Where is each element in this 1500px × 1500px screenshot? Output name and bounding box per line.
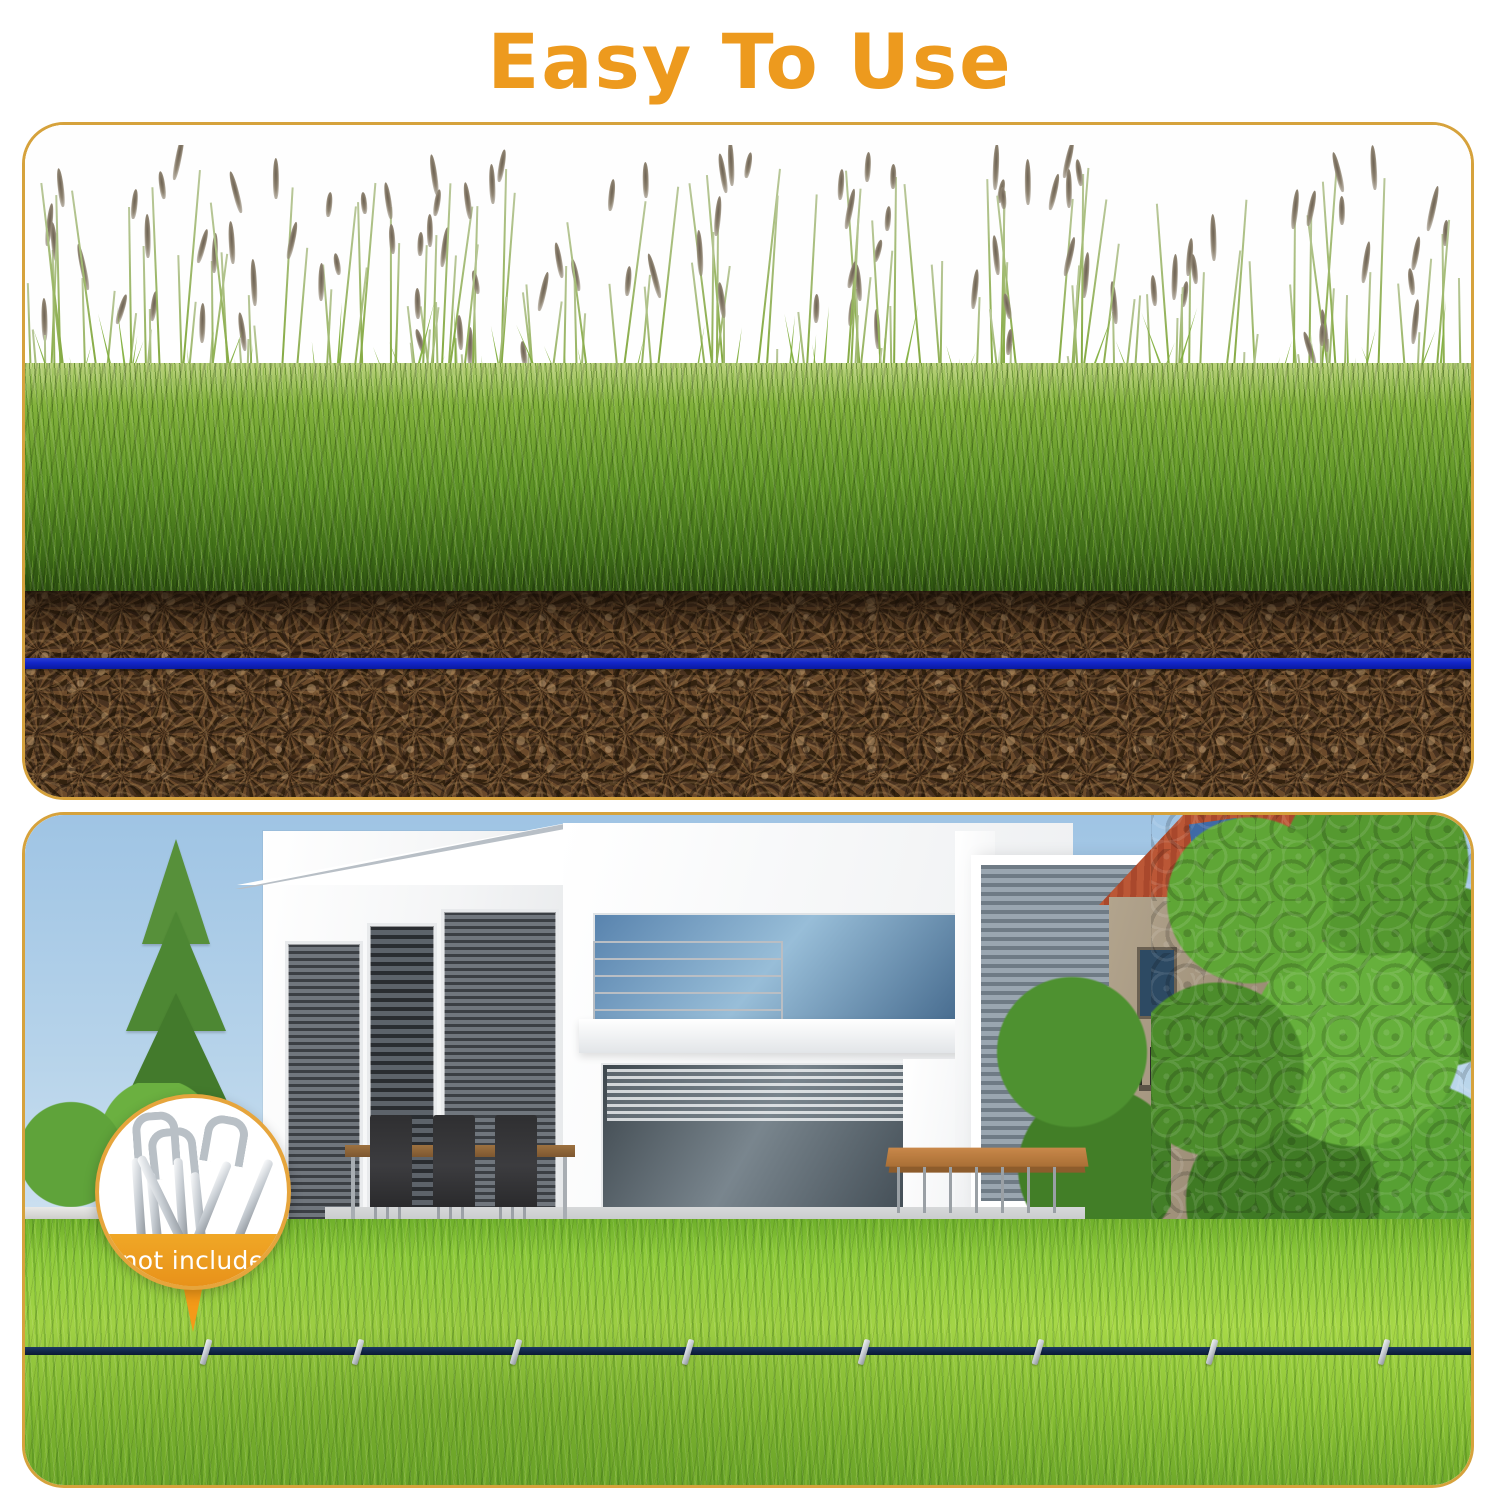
grass-seedhead <box>1171 254 1178 300</box>
grass-seedhead <box>1024 159 1030 205</box>
grass-seedhead <box>1290 189 1300 229</box>
grass-seedhead <box>1319 323 1326 346</box>
grass-seedhead <box>864 152 872 182</box>
grass-seedhead <box>884 206 892 232</box>
soil-shadow <box>25 591 1471 637</box>
grass-seedhead <box>837 168 845 200</box>
patio-chair <box>433 1115 475 1207</box>
grass-seedhead <box>696 229 704 275</box>
grass-seedhead <box>428 154 440 196</box>
grass-seedhead <box>642 162 649 198</box>
grass-seedhead <box>813 294 820 323</box>
garden-bench <box>885 1148 1088 1167</box>
grass-seedhead <box>1062 237 1077 277</box>
grass-seedhead <box>325 192 333 217</box>
grass-seedhead <box>227 171 243 214</box>
grass-seedhead <box>463 182 474 219</box>
grass-seedhead <box>1066 169 1072 208</box>
scene-grass-soil-crosssection <box>25 125 1471 797</box>
right-tree-canopy <box>1151 815 1471 1267</box>
grass-seedhead <box>1425 185 1441 231</box>
grass-seedhead <box>553 242 565 278</box>
grass-seedhead <box>250 259 258 307</box>
grass-seedhead <box>1410 236 1422 270</box>
garden-bench-legs <box>897 1167 1077 1213</box>
panel-underground: Bury the wire underground with a garden … <box>22 122 1474 800</box>
grass-seedhead <box>992 145 1000 191</box>
grass-seedhead <box>333 253 343 276</box>
grass-seedhead <box>227 221 235 264</box>
grass-seedhead <box>1190 254 1199 285</box>
grass-seedhead <box>171 145 186 181</box>
grass-seedhead <box>382 182 393 219</box>
grass-seedhead <box>417 232 424 257</box>
grass-seedhead <box>285 221 299 260</box>
grass-seedhead <box>1370 145 1379 190</box>
grass-seedhead <box>145 214 152 258</box>
grass-seedhead <box>536 272 551 313</box>
grass-seedhead <box>195 229 210 265</box>
grass-seedhead <box>1339 196 1345 226</box>
grass-seedhead <box>624 265 632 295</box>
grass-seedhead <box>489 164 497 204</box>
grass-seedhead <box>273 158 279 199</box>
grass-seedhead <box>1000 187 1008 210</box>
not-include-label: not include <box>99 1234 287 1286</box>
grass-seedhead <box>743 152 754 179</box>
grass-seedhead <box>157 171 167 199</box>
grass-seedhead <box>727 145 735 186</box>
grass-seedhead <box>1407 268 1416 296</box>
grass-seedhead <box>713 196 723 237</box>
grass-seedhead <box>56 168 66 207</box>
patio-chair <box>495 1115 537 1207</box>
grass-seedhead <box>130 189 139 219</box>
grass-seedhead <box>199 303 206 343</box>
grass-seedhead <box>607 179 616 212</box>
grass-seedhead <box>427 214 433 247</box>
grass-seedhead <box>991 234 1001 274</box>
grass-seedhead <box>1074 159 1084 187</box>
grass-seedhead <box>1005 329 1014 356</box>
infographic-page: Easy To Use Bury the wire underground wi… <box>0 0 1500 1500</box>
above-ground-wire-line <box>25 1347 1471 1355</box>
balcony-slab <box>579 1019 999 1053</box>
page-title: Easy To Use <box>0 14 1500 109</box>
patio-chair <box>370 1115 412 1207</box>
callout-circle: not include <box>95 1094 291 1290</box>
grass-seedhead <box>1210 214 1217 261</box>
not-include-callout: not include <box>95 1094 291 1334</box>
balcony-railing <box>593 941 783 1019</box>
grass-seedhead <box>1047 173 1061 211</box>
grass-seedhead <box>415 288 422 319</box>
grass-seedhead <box>1330 152 1346 194</box>
grass-seedhead <box>360 192 368 215</box>
buried-wire-line <box>25 658 1471 669</box>
turf-layer <box>25 363 1471 595</box>
grass-seedhead <box>1150 275 1158 307</box>
